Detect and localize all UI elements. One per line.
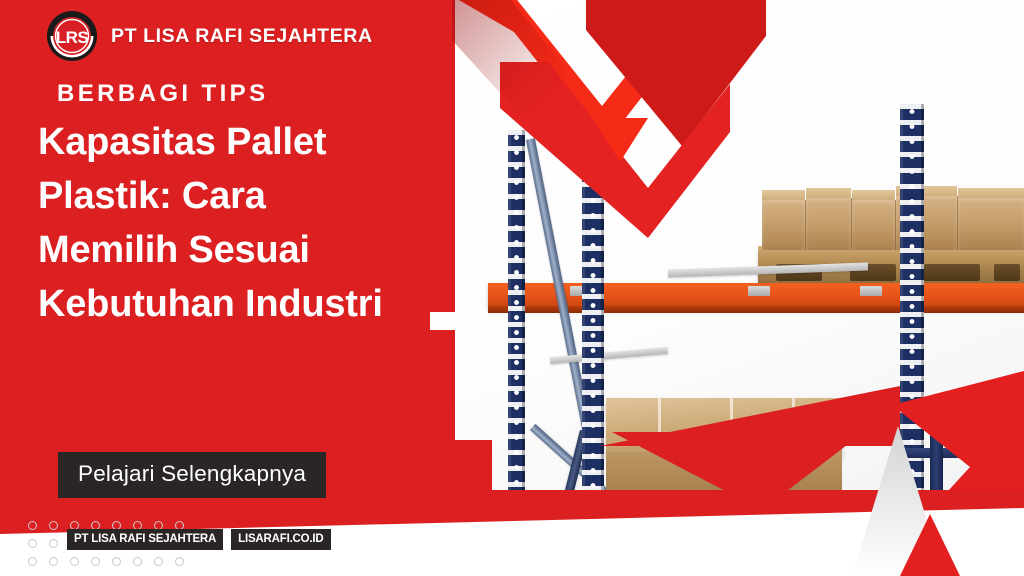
dot <box>91 557 100 566</box>
promotional-banner: LRS PT LISA RAFI SEJAHTERA BERBAGI TIPS … <box>0 0 1024 576</box>
dot <box>875 26 884 35</box>
company-name: PT LISA RAFI SEJAHTERA <box>111 25 373 48</box>
footer-company-chip: PT LISA RAFI SEJAHTERA <box>67 529 223 550</box>
headline-line-2: Plastik: Cara <box>38 170 410 224</box>
dot <box>28 539 37 548</box>
dot <box>175 557 184 566</box>
carton <box>806 198 852 250</box>
dot <box>1001 46 1010 55</box>
dot <box>70 557 79 566</box>
dot <box>854 26 863 35</box>
dot <box>938 26 947 35</box>
carton <box>762 200 806 250</box>
dot <box>980 26 989 35</box>
dot <box>1001 26 1010 35</box>
dot <box>980 46 989 55</box>
headline: Kapasitas Pallet Plastik: Cara Memilih S… <box>38 116 410 332</box>
dot <box>854 6 863 15</box>
dot <box>49 521 58 530</box>
dot <box>28 557 37 566</box>
dot-grid-top-right <box>854 6 1010 55</box>
eyebrow-label: BERBAGI TIPS <box>57 80 268 108</box>
dot <box>875 46 884 55</box>
headline-line-4: Kebutuhan Industri <box>38 278 410 332</box>
dot <box>154 557 163 566</box>
dot <box>959 26 968 35</box>
carton <box>958 198 1024 250</box>
dot <box>854 46 863 55</box>
beam-clip <box>860 286 882 296</box>
beam-clip <box>748 286 770 296</box>
dot <box>959 46 968 55</box>
headline-line-3: Memilih Sesuai <box>38 224 410 278</box>
svg-text:LRS: LRS <box>56 28 89 47</box>
dot <box>28 521 37 530</box>
dot <box>938 46 947 55</box>
dot <box>112 557 121 566</box>
dot <box>917 26 926 35</box>
dot <box>133 557 142 566</box>
dot <box>938 6 947 15</box>
dot <box>875 6 884 15</box>
learn-more-button[interactable]: Pelajari Selengkapnya <box>58 452 326 498</box>
headline-line-1: Kapasitas Pallet <box>38 116 410 170</box>
carton <box>852 200 896 250</box>
dot <box>896 6 905 15</box>
dot <box>49 539 58 548</box>
footer-chips: PT LISA RAFI SEJAHTERA LISARAFI.CO.ID <box>67 529 331 550</box>
rack-upright <box>508 130 525 520</box>
lrs-logo-icon[interactable]: LRS <box>46 10 98 62</box>
dot <box>896 26 905 35</box>
dot <box>980 6 989 15</box>
header: LRS PT LISA RAFI SEJAHTERA <box>46 10 373 62</box>
footer-website-chip[interactable]: LISARAFI.CO.ID <box>231 529 330 550</box>
dot <box>1001 6 1010 15</box>
dot <box>959 6 968 15</box>
dot <box>917 6 926 15</box>
dot <box>896 46 905 55</box>
dot <box>49 557 58 566</box>
dot <box>917 46 926 55</box>
